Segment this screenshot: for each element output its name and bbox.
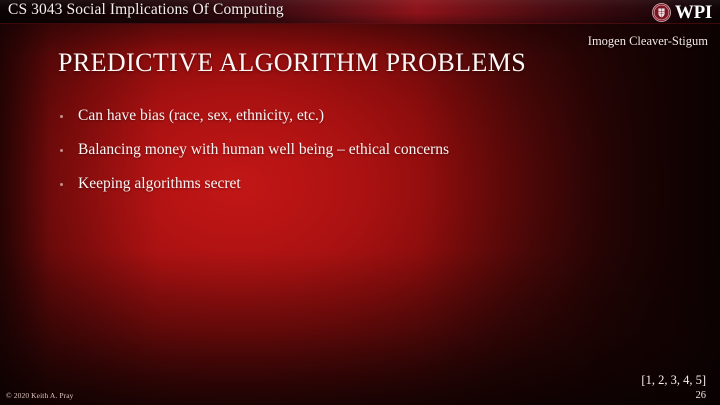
bullet-text: Keeping algorithms secret (78, 174, 241, 194)
wpi-seal-icon (652, 3, 671, 22)
list-item: Can have bias (race, sex, ethnicity, etc… (58, 106, 658, 126)
author-name: Imogen Cleaver-Stigum (588, 34, 708, 49)
copyright-notice: © 2020 Keith A. Pray (6, 391, 74, 401)
presentation-slide: CS 3043 Social Implications Of Computing… (0, 0, 720, 405)
bullet-text: Can have bias (race, sex, ethnicity, etc… (78, 106, 324, 126)
course-title: CS 3043 Social Implications Of Computing (8, 1, 284, 19)
bullet-dot-icon (58, 106, 78, 126)
reference-citation: [1, 2, 3, 4, 5] (641, 373, 706, 387)
wpi-wordmark: WPI (675, 3, 712, 22)
bullet-dot-icon (58, 140, 78, 160)
bullet-text: Balancing money with human well being – … (78, 140, 449, 160)
list-item: Balancing money with human well being – … (58, 140, 658, 160)
slide-header-bar: CS 3043 Social Implications Of Computing… (0, 0, 720, 24)
bullet-dot-icon (58, 174, 78, 194)
page-number: 26 (696, 390, 707, 402)
wpi-logo: WPI (652, 0, 712, 24)
bullet-list: Can have bias (race, sex, ethnicity, etc… (58, 106, 658, 208)
list-item: Keeping algorithms secret (58, 174, 658, 194)
slide-title: PREDICTIVE ALGORITHM PROBLEMS (58, 48, 526, 78)
